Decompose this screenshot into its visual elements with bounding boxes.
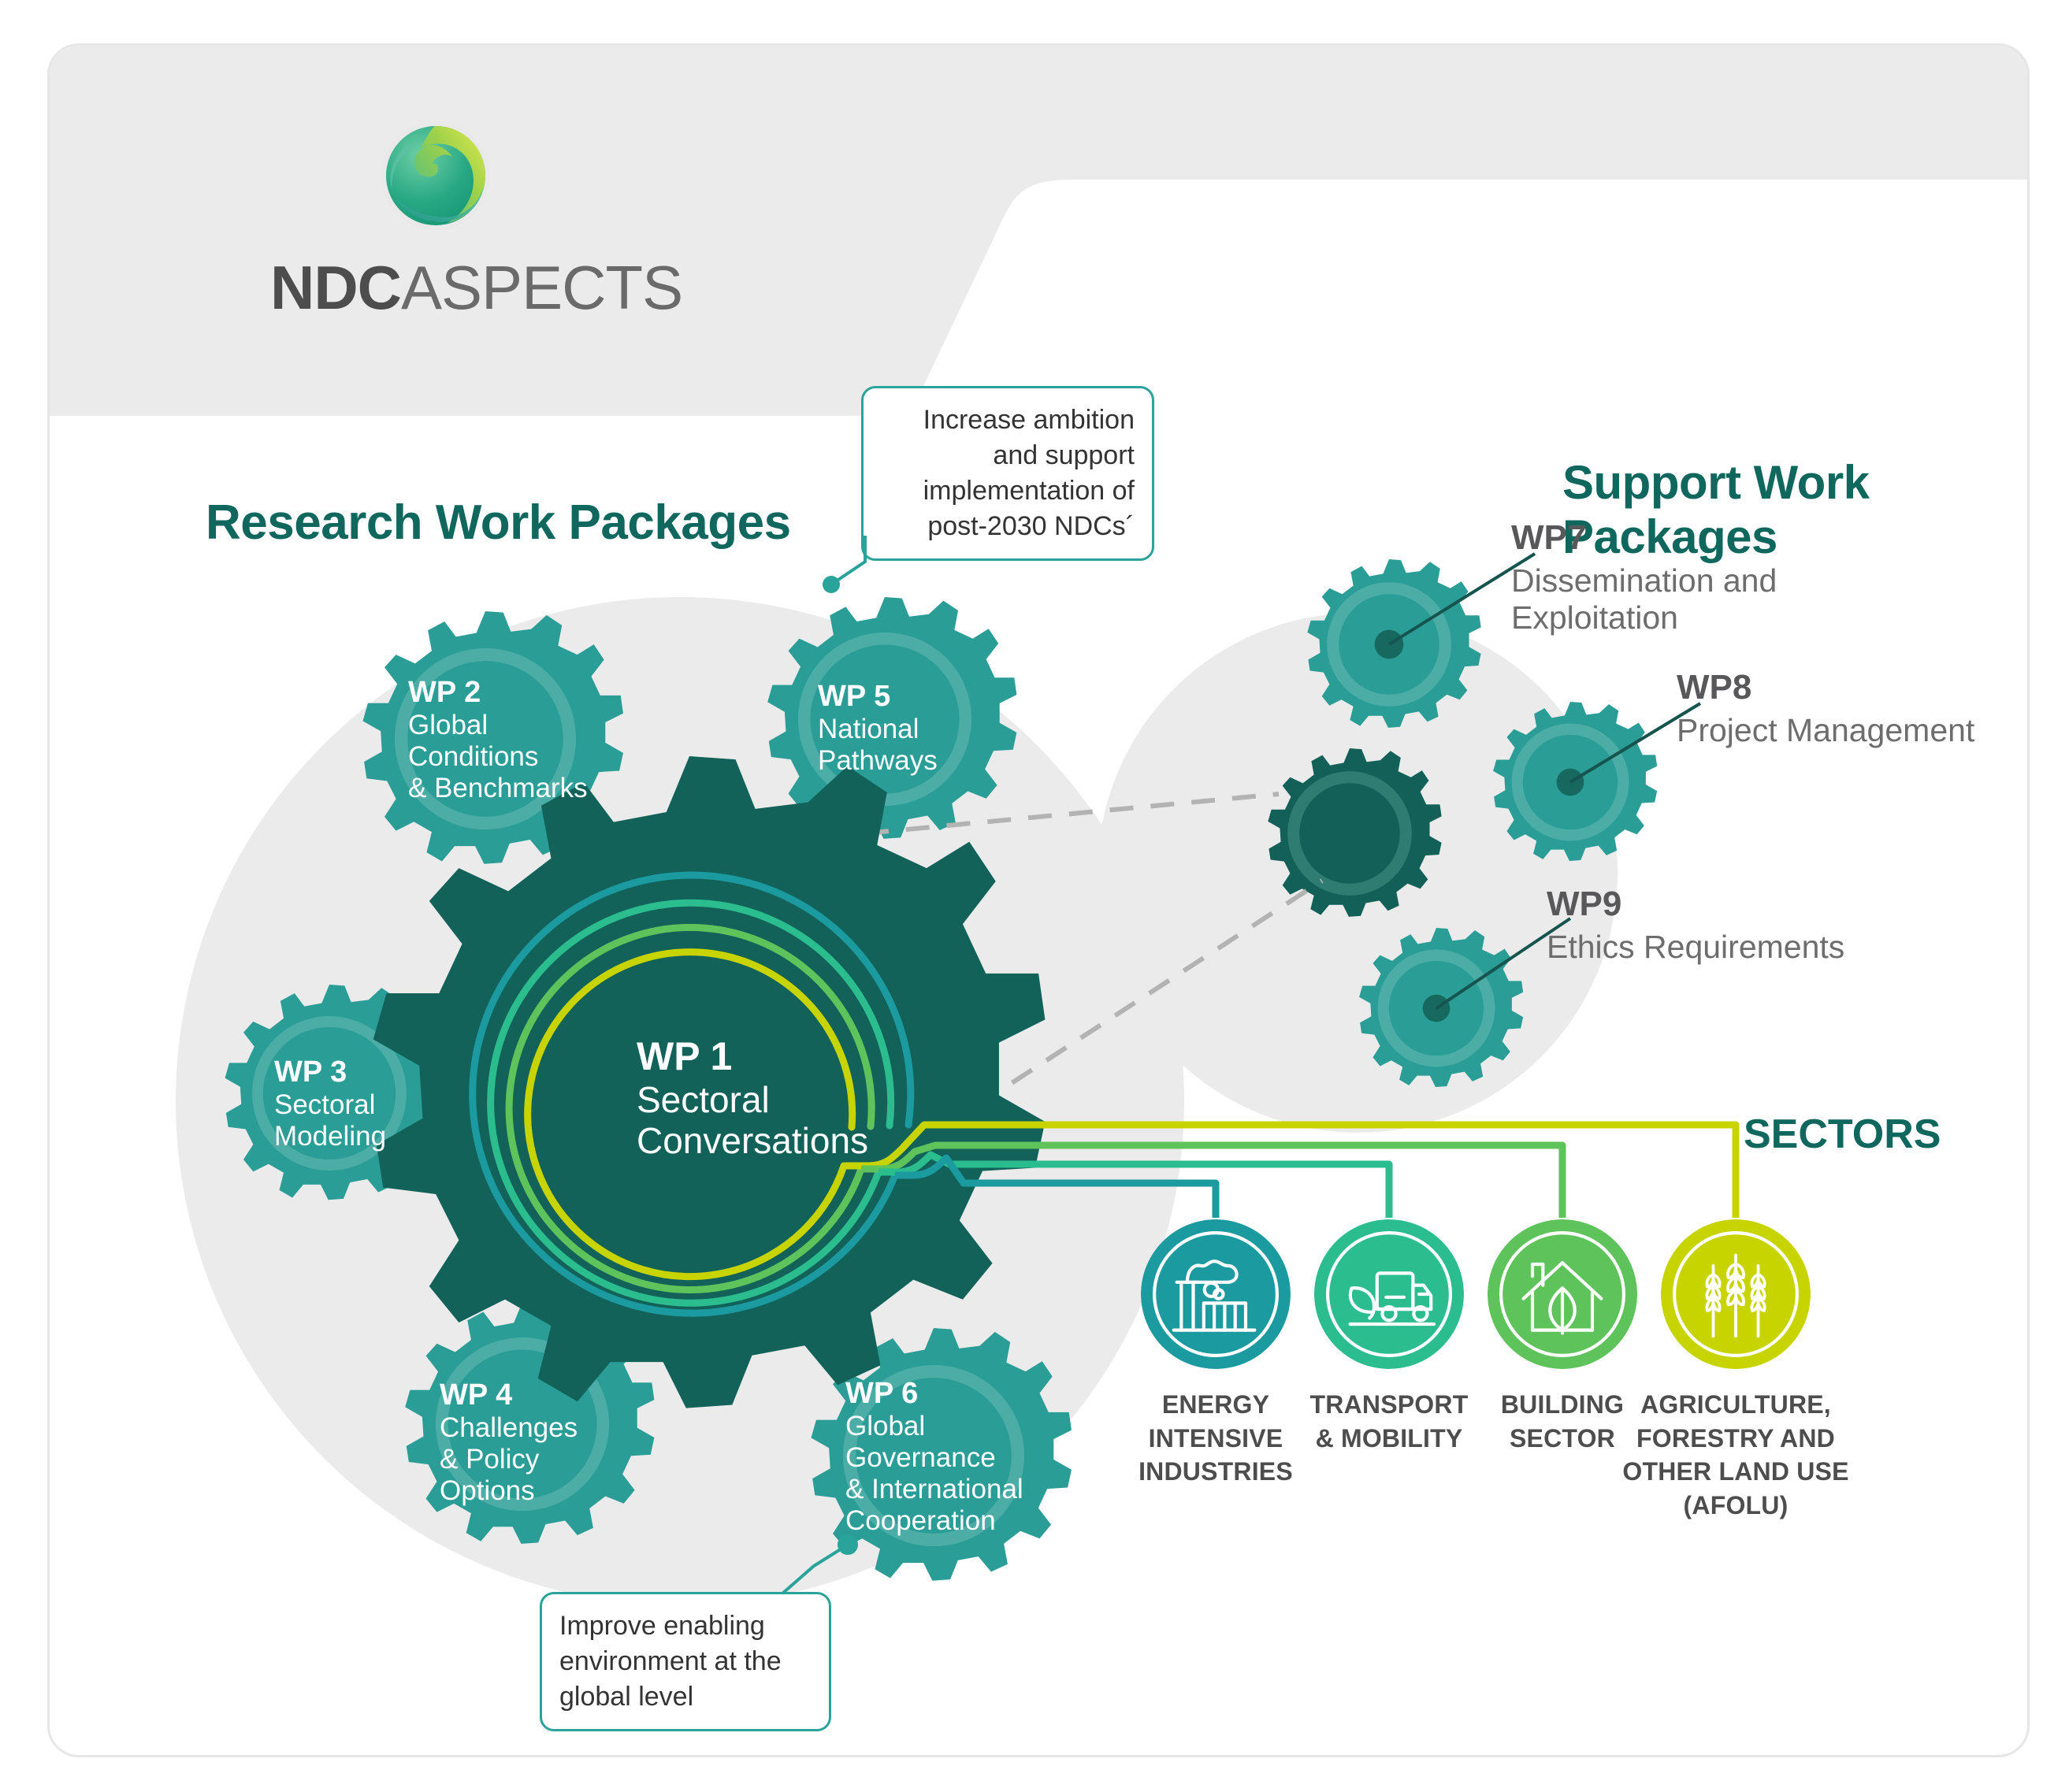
- sector-afolu-label: AGRICULTURE,FORESTRY ANDOTHER LAND USE(A…: [1621, 1388, 1850, 1522]
- truck-leaf-icon: [1314, 1219, 1464, 1369]
- house-leaf-icon: [1488, 1219, 1637, 1369]
- infographic-card: NDCASPECTS Research Work Packages Suppor…: [47, 43, 2030, 1757]
- factory-icon: [1141, 1219, 1291, 1369]
- sector-afolu[interactable]: AGRICULTURE,FORESTRY ANDOTHER LAND USE(A…: [1621, 1219, 1850, 1522]
- wheat-icon: [1661, 1219, 1811, 1369]
- infographic-canvas: NDCASPECTS Research Work Packages Suppor…: [0, 0, 2069, 1792]
- callout-bottom-dot: [838, 1534, 858, 1555]
- callout-bottom-pointer: [782, 1546, 845, 1594]
